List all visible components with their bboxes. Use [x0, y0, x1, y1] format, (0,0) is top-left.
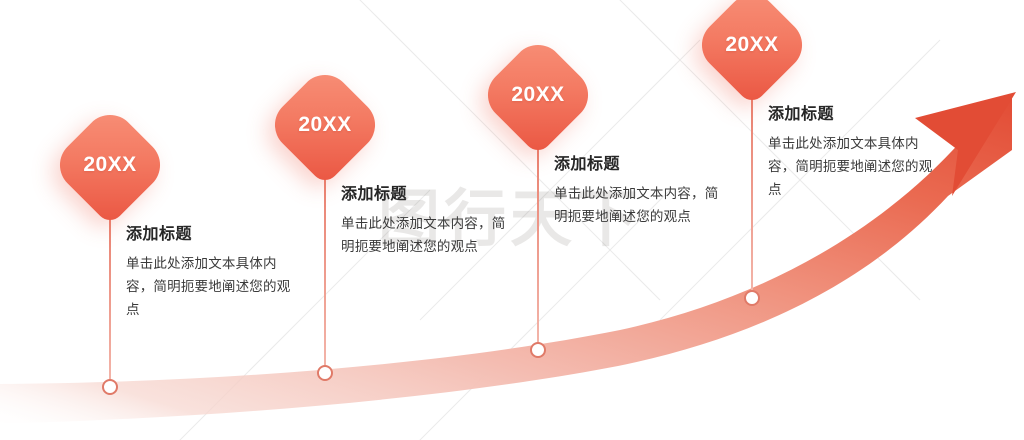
node-2-stem [324, 172, 326, 372]
node-2-year-label: 20XX [282, 82, 368, 168]
node-4-year-label: 20XX [709, 2, 795, 88]
node-3-body: 单击此处添加文本内容，简明扼要地阐述您的观点 [554, 182, 722, 228]
node-3-stem [537, 142, 539, 350]
node-2-content: 添加标题 单击此处添加文本内容，简明扼要地阐述您的观点 [341, 185, 509, 258]
node-1-marker-dot[interactable] [102, 379, 118, 395]
infographic-canvas: 图行天下 20XX 添加标题 单击此处添加文本具体内容，简明扼要地阐述您的观点 [0, 0, 1024, 440]
node-4-marker-dot[interactable] [744, 290, 760, 306]
node-1-title: 添加标题 [126, 225, 294, 246]
node-4-content: 添加标题 单击此处添加文本具体内容，简明扼要地阐述您的观点 [768, 105, 936, 201]
node-1-body: 单击此处添加文本具体内容，简明扼要地阐述您的观点 [126, 252, 294, 322]
node-4-body: 单击此处添加文本具体内容，简明扼要地阐述您的观点 [768, 132, 936, 202]
node-3-content: 添加标题 单击此处添加文本内容，简明扼要地阐述您的观点 [554, 155, 722, 228]
node-3-title: 添加标题 [554, 155, 722, 176]
node-3-marker-dot[interactable] [530, 342, 546, 358]
node-1-year-label: 20XX [67, 122, 153, 208]
node-4-stem [751, 92, 753, 298]
node-1-stem [109, 212, 111, 387]
node-2-body: 单击此处添加文本内容，简明扼要地阐述您的观点 [341, 212, 509, 258]
node-4-title: 添加标题 [768, 105, 936, 126]
node-2-title: 添加标题 [341, 185, 509, 206]
node-2-marker-dot[interactable] [317, 365, 333, 381]
node-3-year-label: 20XX [495, 52, 581, 138]
node-1-content: 添加标题 单击此处添加文本具体内容，简明扼要地阐述您的观点 [126, 225, 294, 321]
